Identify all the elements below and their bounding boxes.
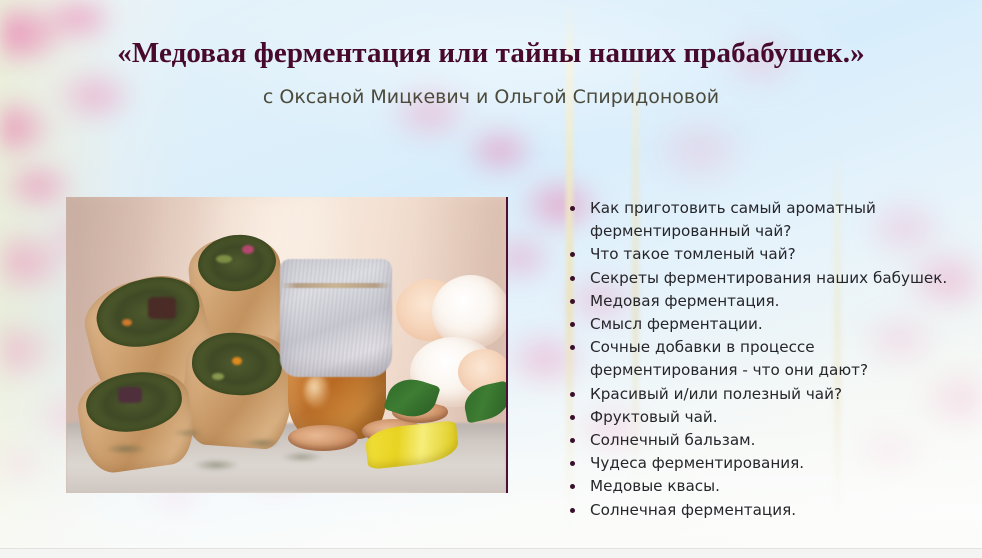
topics-list: Как приготовить самый ароматный ферменти… <box>560 197 960 522</box>
list-item: Фруктовый чай. <box>560 406 960 429</box>
slide-title: «Медовая ферментация или тайны наших пра… <box>0 36 982 70</box>
jar-cloth-tie <box>281 283 391 288</box>
list-item: Медовая ферментация. <box>560 290 960 313</box>
photo-content <box>66 197 506 493</box>
presentation-slide: «Медовая ферментация или тайны наших пра… <box>0 0 982 558</box>
herb-fleck <box>148 297 176 319</box>
list-item: Смысл ферментации. <box>560 313 960 336</box>
list-item: Солнечная ферментация. <box>560 499 960 522</box>
herb-fleck <box>216 255 232 263</box>
list-item: Красивый и/или полезный чай? <box>560 383 960 406</box>
slide-bottom-strip <box>0 548 982 558</box>
list-item: Как приготовить самый ароматный ферменти… <box>560 197 960 243</box>
herbal-tea-photo <box>66 197 508 493</box>
herb-fleck <box>122 319 132 326</box>
photo-scattered-herbs <box>66 421 506 493</box>
jar-cloth-cover <box>280 259 392 377</box>
slide-subtitle: с Оксаной Мицкевич и Ольгой Спиридоновой <box>0 84 982 110</box>
list-item: Что такое томленый чай? <box>560 243 960 266</box>
herb-fleck <box>212 373 224 380</box>
list-item: Чудеса ферментирования. <box>560 452 960 475</box>
list-item: Секреты ферментирования наших бабушек. <box>560 267 960 290</box>
herb-fleck <box>118 387 142 403</box>
herb-fleck <box>232 357 242 365</box>
list-item: Сочные добавки в процессе ферментировани… <box>560 336 960 382</box>
honey-jar-gloss <box>304 375 330 409</box>
list-item: Медовые квасы. <box>560 475 960 498</box>
herb-fleck <box>242 245 254 254</box>
list-item: Солнечный бальзам. <box>560 429 960 452</box>
